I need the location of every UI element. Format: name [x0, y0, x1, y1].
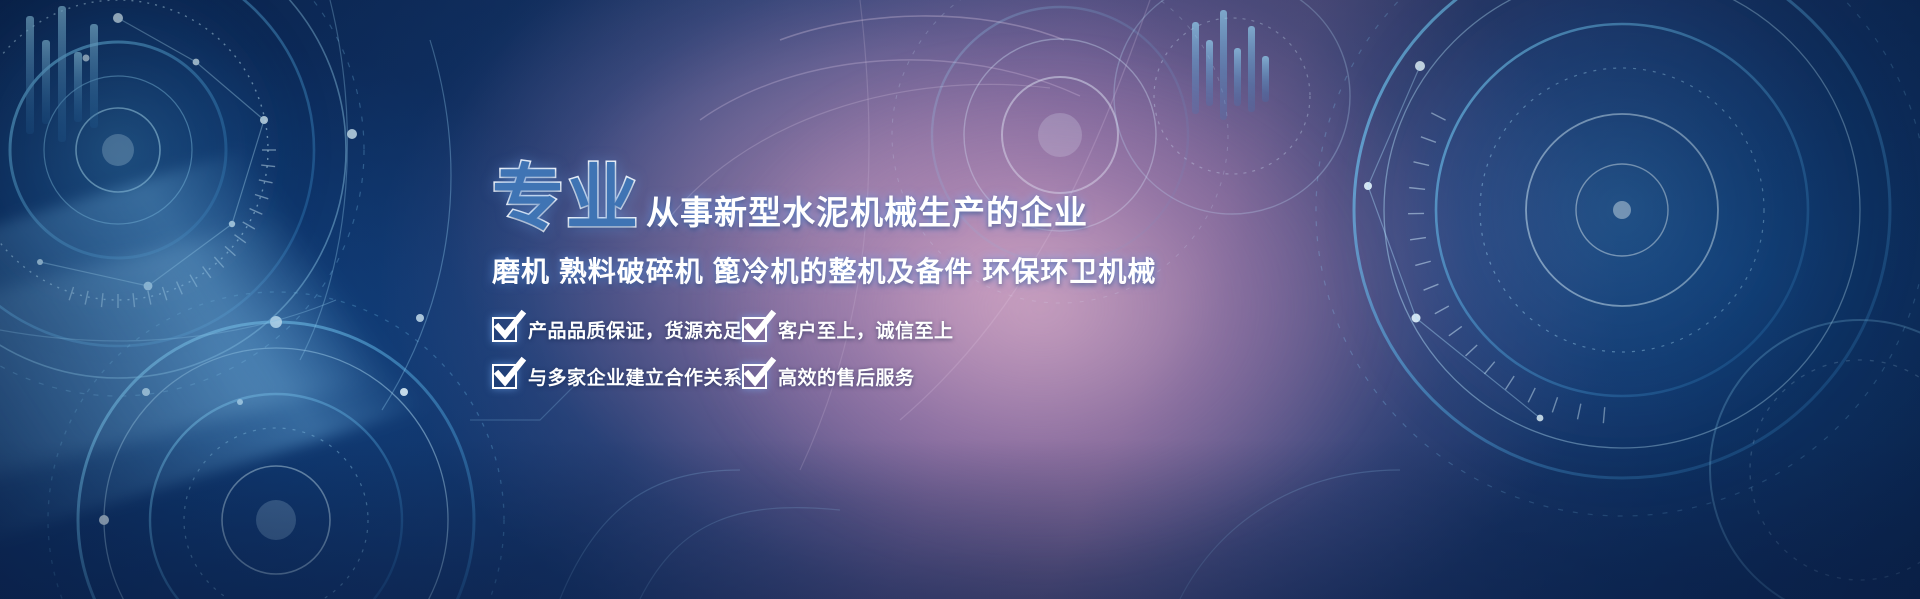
product-line: 磨机 熟料破碎机 篦冷机的整机及备件 环保环卫机械 [492, 250, 1112, 290]
feature-item: 高效的售后服务 [742, 363, 1112, 390]
feature-label: 高效的售后服务 [778, 363, 915, 390]
headline: 专业 从事新型水泥机械生产的企业 [492, 160, 1112, 234]
feature-label: 客户至上，诚信至上 [778, 316, 954, 343]
hero-banner: 专业 从事新型水泥机械生产的企业 磨机 熟料破碎机 篦冷机的整机及备件 环保环卫… [0, 0, 1920, 599]
check-icon [492, 364, 517, 389]
headline-keyword: 专业 [492, 163, 640, 234]
left-data-bars [26, 6, 98, 142]
headline-subtitle: 从事新型水泥机械生产的企业 [646, 196, 1088, 234]
bottom-haze [0, 439, 1920, 599]
check-icon [492, 317, 517, 342]
feature-item: 客户至上，诚信至上 [742, 316, 1112, 343]
check-icon [742, 364, 767, 389]
right-data-bars [1192, 10, 1269, 120]
feature-item: 产品品质保证，货源充足 [492, 316, 742, 343]
check-icon [742, 317, 767, 342]
feature-item: 与多家企业建立合作关系 [492, 363, 742, 390]
feature-label: 与多家企业建立合作关系 [528, 363, 743, 390]
feature-label: 产品品质保证，货源充足 [528, 316, 743, 343]
banner-content: 专业 从事新型水泥机械生产的企业 磨机 熟料破碎机 篦冷机的整机及备件 环保环卫… [492, 160, 1112, 390]
feature-list: 产品品质保证，货源充足 客户至上，诚信至上 与多家企业建立合作关系 [492, 316, 1112, 390]
